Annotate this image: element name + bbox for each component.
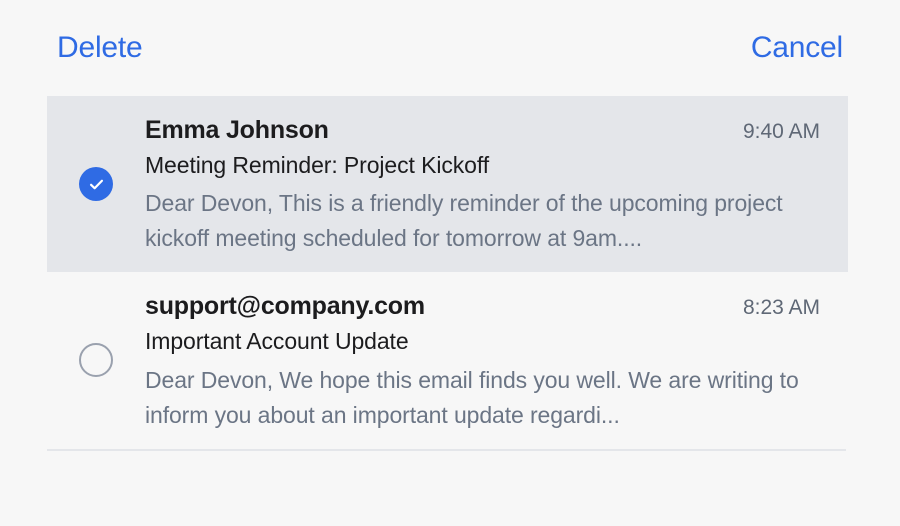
sender-name: Emma Johnson: [145, 114, 329, 146]
message-header: support@company.com 8:23 AM: [145, 290, 820, 322]
cancel-button[interactable]: Cancel: [751, 33, 843, 63]
circle-outline-icon[interactable]: [79, 343, 113, 377]
message-row[interactable]: Emma Johnson 9:40 AM Meeting Reminder: P…: [47, 96, 848, 272]
message-timestamp: 9:40 AM: [743, 118, 820, 145]
action-bar: Delete Cancel: [0, 0, 900, 96]
message-preview: Dear Devon, We hope this email finds you…: [145, 363, 820, 433]
sender-name: support@company.com: [145, 290, 425, 322]
message-timestamp: 8:23 AM: [743, 294, 820, 321]
message-content: support@company.com 8:23 AM Important Ac…: [145, 288, 820, 432]
checkmark-icon: [88, 176, 105, 193]
list-divider: [47, 449, 846, 451]
message-header: Emma Johnson 9:40 AM: [145, 114, 820, 146]
message-row[interactable]: support@company.com 8:23 AM Important Ac…: [47, 272, 848, 448]
message-preview: Dear Devon, This is a friendly reminder …: [145, 186, 820, 256]
select-column: [47, 112, 145, 256]
message-content: Emma Johnson 9:40 AM Meeting Reminder: P…: [145, 112, 820, 256]
email-selection-screen: Delete Cancel Emma Johnson 9:40 AM Meeti…: [0, 0, 900, 526]
check-circle-filled-icon[interactable]: [79, 167, 113, 201]
message-list: Emma Johnson 9:40 AM Meeting Reminder: P…: [0, 96, 900, 451]
message-subject: Important Account Update: [145, 325, 820, 358]
delete-button[interactable]: Delete: [57, 33, 143, 63]
select-column: [47, 288, 145, 432]
message-subject: Meeting Reminder: Project Kickoff: [145, 149, 820, 182]
